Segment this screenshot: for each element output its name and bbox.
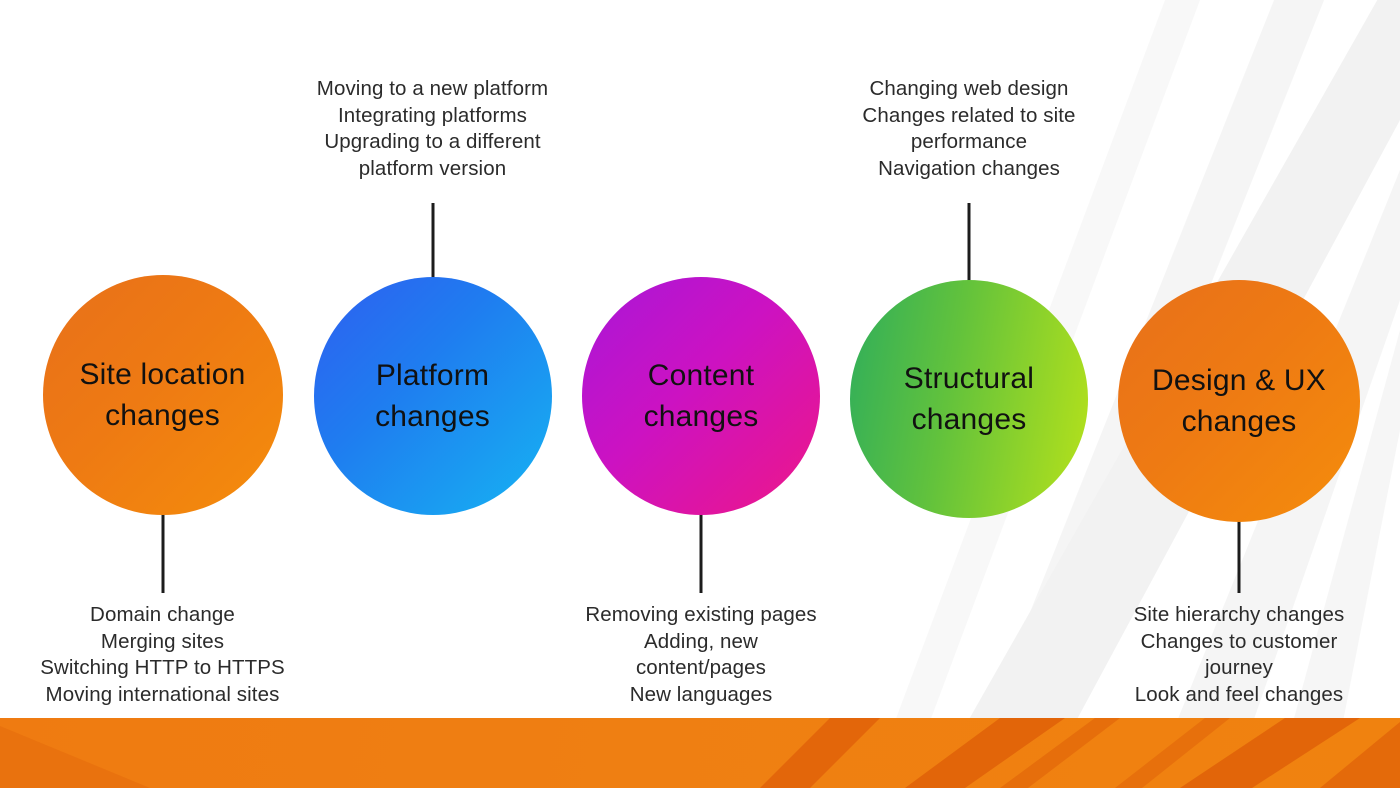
connector-line-top [431,203,434,285]
node-label-design-and-ux-changes: Site hierarchy changes Changes to custom… [1105,602,1373,708]
node-circle-content-changes[interactable]: Content changes [582,277,820,515]
connector-line-bottom [1238,511,1241,593]
node-label-platform-changes: Moving to a new platform Integrating pla… [280,76,585,182]
connector-line-bottom [161,511,164,593]
node-structural-changes[interactable]: Changing web design Changes related to s… [840,0,1098,718]
node-platform-changes[interactable]: Moving to a new platform Integrating pla… [280,0,585,718]
node-label-site-location-changes: Domain change Merging sites Switching HT… [0,602,325,708]
node-site-location-changes[interactable]: Site location changes Domain change Merg… [0,0,325,718]
node-label-structural-changes: Changing web design Changes related to s… [840,76,1098,182]
node-design-and-ux-changes[interactable]: Design & UX changes Site hierarchy chang… [1105,0,1373,718]
node-label-content-changes: Removing existing pages Adding, new cont… [550,602,852,708]
node-circle-platform-changes[interactable]: Platform changes [314,277,552,515]
node-content-changes[interactable]: Content changes Removing existing pages … [550,0,852,718]
connector-line-top [968,203,971,285]
node-circle-structural-changes[interactable]: Structural changes [850,280,1088,518]
footer-stripe-group [0,718,1400,788]
node-row: Site location changes Domain change Merg… [0,0,1400,788]
connector-line-bottom [700,511,703,593]
slide-canvas: Site location changes Domain change Merg… [0,0,1400,788]
footer-band [0,718,1400,788]
node-circle-design-and-ux-changes[interactable]: Design & UX changes [1118,280,1360,522]
node-circle-site-location-changes[interactable]: Site location changes [43,275,283,515]
